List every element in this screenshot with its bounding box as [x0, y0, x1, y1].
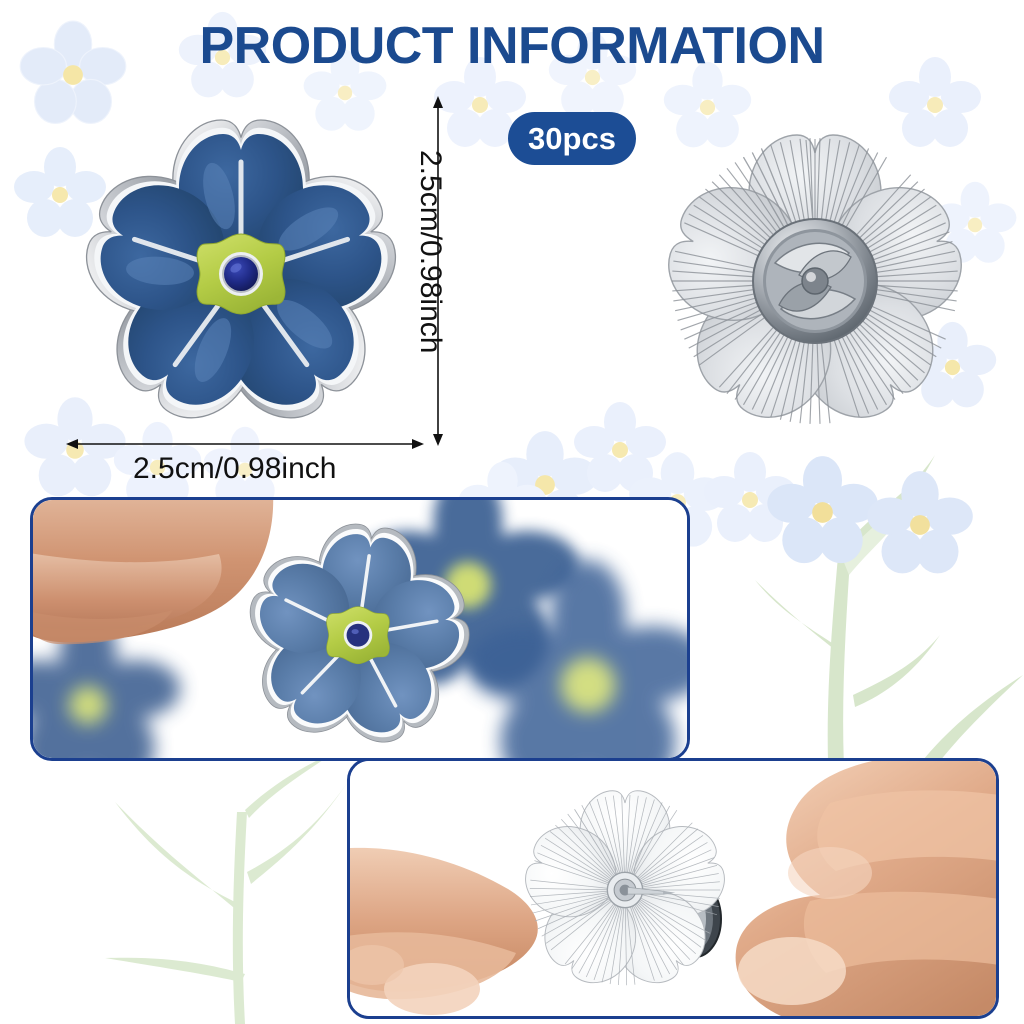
flower-pin-front-icon [66, 96, 416, 446]
flower-pin-back-icon [640, 96, 990, 456]
butterfly-clutch-icon [753, 219, 877, 343]
background-flower-icon [865, 470, 975, 580]
background-flower-icon [700, 450, 800, 550]
page-title: PRODUCT INFORMATION [0, 16, 1024, 76]
dimension-width-label: 2.5cm/0.98inch [133, 452, 336, 486]
enamel-pin-front-closeup [208, 508, 508, 758]
product-information-poster: PRODUCT INFORMATION [0, 0, 1024, 1024]
pin-back-closeup-icon [490, 769, 760, 1007]
background-stem-right-icon [735, 395, 1024, 815]
quantity-badge: 30pcs [508, 112, 636, 165]
attaching-clutch-photo [347, 758, 999, 1019]
quantity-badge-label: 30pcs [528, 121, 616, 157]
holding-enamel-pin-photo [30, 497, 690, 761]
background-leaves-left-icon [85, 752, 385, 1024]
background-flower-icon [765, 455, 880, 570]
dimension-height-label: 2.5cm/0.98inch [413, 150, 447, 410]
pin-center-ring [197, 234, 285, 314]
